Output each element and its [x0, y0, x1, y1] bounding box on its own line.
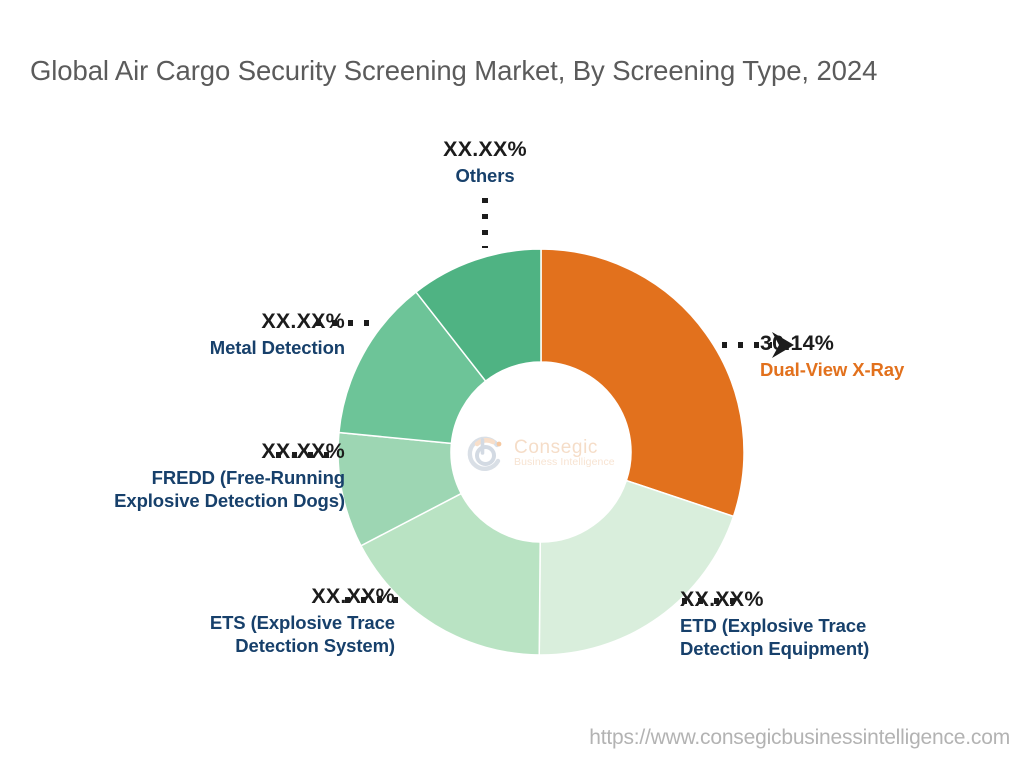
slice-percent-ets: XX.XX% — [110, 583, 395, 611]
slice-label-metal-detection: XX.XX% Metal Detection — [100, 308, 345, 359]
slice-label-etd: XX.XX% ETD (Explosive Trace Detection Eq… — [680, 586, 980, 661]
slice-percent-etd: XX.XX% — [680, 586, 980, 614]
slice-percent-metal-detection: XX.XX% — [100, 308, 345, 336]
slice-name-fredd: FREDD (Free-Running Explosive Detection … — [40, 466, 345, 513]
slice-name-others: Others — [385, 164, 585, 188]
slice-name-dualview: Dual-View X-Ray — [760, 358, 1010, 382]
slice-percent-fredd: XX.XX% — [40, 438, 345, 466]
chart-container: Global Air Cargo Security Screening Mark… — [0, 0, 1024, 768]
slice-label-dualview: 30.14% Dual-View X-Ray — [760, 330, 1010, 381]
slice-name-etd: ETD (Explosive Trace Detection Equipment… — [680, 614, 980, 661]
slice-percent-others: XX.XX% — [385, 136, 585, 164]
footer-url: https://www.consegicbusinessintelligence… — [589, 726, 1010, 750]
slice-label-others: XX.XX% Others — [385, 136, 585, 187]
slice-label-fredd: XX.XX% FREDD (Free-Running Explosive Det… — [40, 438, 345, 513]
slice-name-ets: ETS (Explosive Trace Detection System) — [110, 611, 395, 658]
slice-percent-dualview: 30.14% — [760, 330, 1010, 358]
donut-center-hole — [451, 362, 631, 542]
slice-name-metal-detection: Metal Detection — [100, 336, 345, 360]
slice-label-ets: XX.XX% ETS (Explosive Trace Detection Sy… — [110, 583, 395, 658]
